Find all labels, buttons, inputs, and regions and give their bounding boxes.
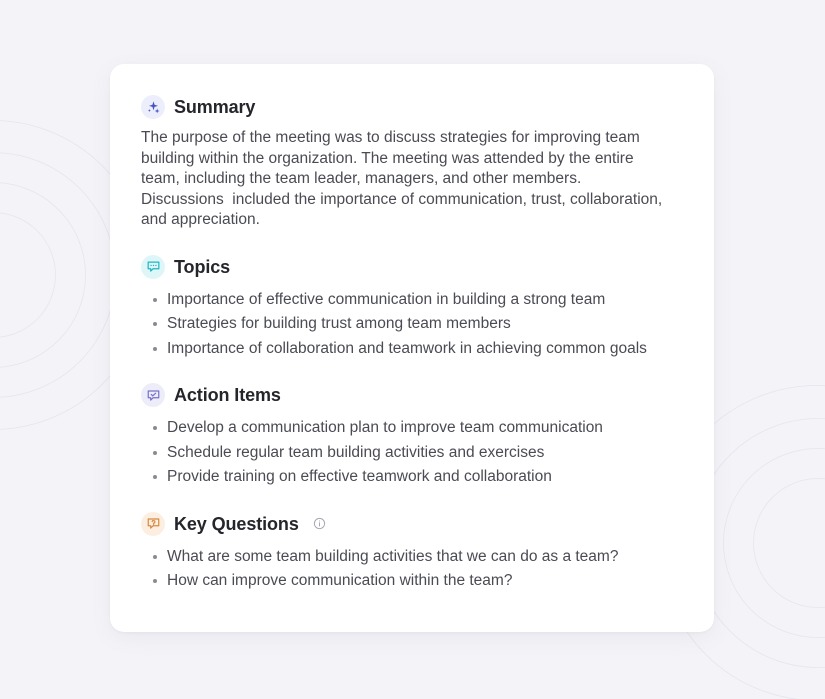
list-item: Importance of collaboration and teamwork… <box>167 339 677 360</box>
list-item: Schedule regular team building activitie… <box>167 443 677 464</box>
section-header-topics: Topics <box>141 254 682 280</box>
list-item: What are some team building activities t… <box>167 547 677 568</box>
list-item: How can improve communication within the… <box>167 571 677 592</box>
section-summary: Summary The purpose of the meeting was t… <box>141 94 682 231</box>
decorative-ring <box>753 478 825 608</box>
decorative-ring <box>0 182 86 368</box>
section-title: Action Items <box>174 386 281 404</box>
topics-list: Importance of effective communication in… <box>141 290 682 360</box>
section-key-questions: Key Questions What are some team buildin… <box>141 511 682 592</box>
section-title: Summary <box>174 98 255 116</box>
decorative-ring <box>723 448 825 638</box>
chat-bubble-icon <box>141 255 165 279</box>
sparkle-icon <box>141 95 165 119</box>
section-header-action-items: Action Items <box>141 382 682 408</box>
list-item: Importance of effective communication in… <box>167 290 677 311</box>
meeting-summary-card: Summary The purpose of the meeting was t… <box>110 64 714 632</box>
list-item: Develop a communication plan to improve … <box>167 418 677 439</box>
decorative-ring <box>0 212 56 338</box>
list-item: Provide training on effective teamwork a… <box>167 467 677 488</box>
section-title: Topics <box>174 258 230 276</box>
section-header-key-questions: Key Questions <box>141 511 682 537</box>
decorative-ring <box>0 152 116 398</box>
chat-bubble-question-icon <box>141 512 165 536</box>
list-item: Strategies for building trust among team… <box>167 314 677 335</box>
info-circle-icon[interactable] <box>313 517 326 530</box>
chat-bubble-check-icon <box>141 383 165 407</box>
key-questions-list: What are some team building activities t… <box>141 547 682 592</box>
section-header-summary: Summary <box>141 94 682 120</box>
section-topics: Topics Importance of effective communica… <box>141 254 682 360</box>
action-items-list: Develop a communication plan to improve … <box>141 418 682 488</box>
summary-paragraph: The purpose of the meeting was to discus… <box>141 128 666 231</box>
section-action-items: Action Items Develop a communication pla… <box>141 382 682 488</box>
section-title: Key Questions <box>174 515 299 533</box>
